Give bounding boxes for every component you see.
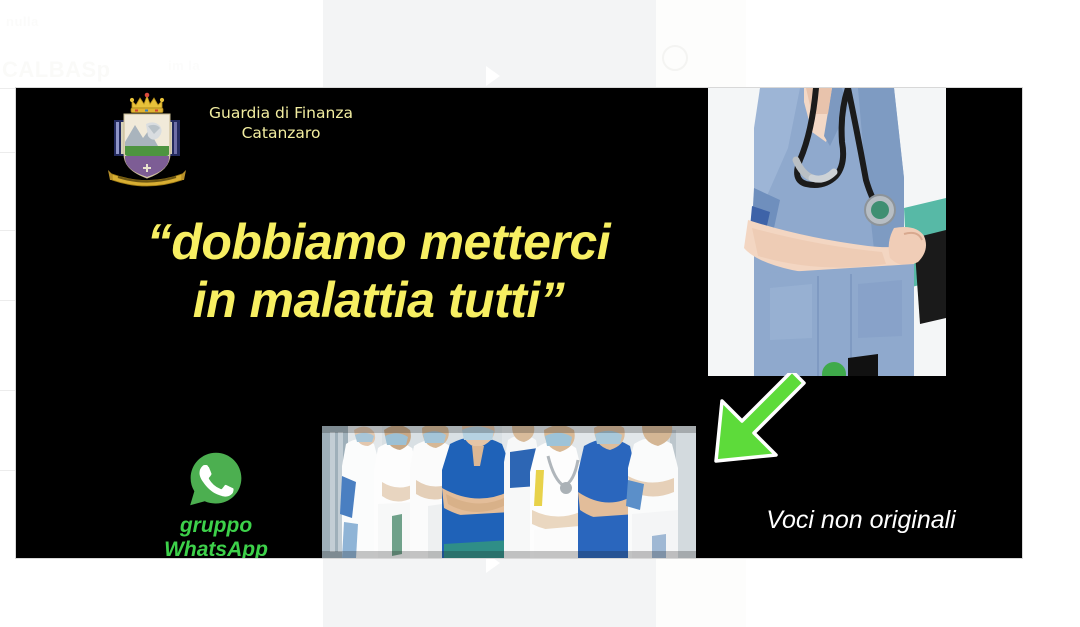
green-arrow-down-left-icon xyxy=(692,373,812,473)
whatsapp-label-line2: WhatsApp xyxy=(146,538,286,558)
caption-voci-non-originali: Voci non originali xyxy=(716,506,1006,535)
background-refresh-icon xyxy=(662,45,688,71)
background-divider-4 xyxy=(0,300,16,301)
whatsapp-label-line1: gruppo xyxy=(146,514,286,538)
agency-name: Guardia di Finanza Catanzaro xyxy=(181,104,381,144)
headline-line1: “dobbiamo metterci xyxy=(56,213,701,271)
slide-headline: “dobbiamo metterci in malattia tutti” xyxy=(56,213,701,329)
screenshot-root: CALBASp nulla im la xyxy=(0,0,1080,627)
background-divider-6 xyxy=(0,470,16,471)
background-divider-5 xyxy=(0,390,16,391)
nurse-scrubs-photo xyxy=(708,88,946,376)
play-triangle-icon-top[interactable] xyxy=(486,66,500,86)
agency-name-line2: Catanzaro xyxy=(181,124,381,144)
presentation-slide: Guardia di Finanza Catanzaro “dobbiamo m… xyxy=(16,88,1022,558)
whatsapp-group-label: gruppo WhatsApp xyxy=(146,514,286,558)
background-divider-2 xyxy=(0,152,16,153)
background-ghost-title: CALBASp xyxy=(2,57,111,83)
whatsapp-icon[interactable] xyxy=(187,450,245,508)
guardia-di-finanza-coat-of-arms-icon xyxy=(102,90,192,190)
whatsapp-group-block[interactable]: gruppo WhatsApp xyxy=(146,450,286,558)
agency-name-line1: Guardia di Finanza xyxy=(181,104,381,124)
medical-staff-group-photo xyxy=(322,426,696,558)
background-ghost-label-2: im la xyxy=(168,58,200,73)
headline-line2: in malattia tutti” xyxy=(56,271,701,329)
background-ghost-label-1: nulla xyxy=(6,14,39,29)
background-divider-3 xyxy=(0,230,16,231)
